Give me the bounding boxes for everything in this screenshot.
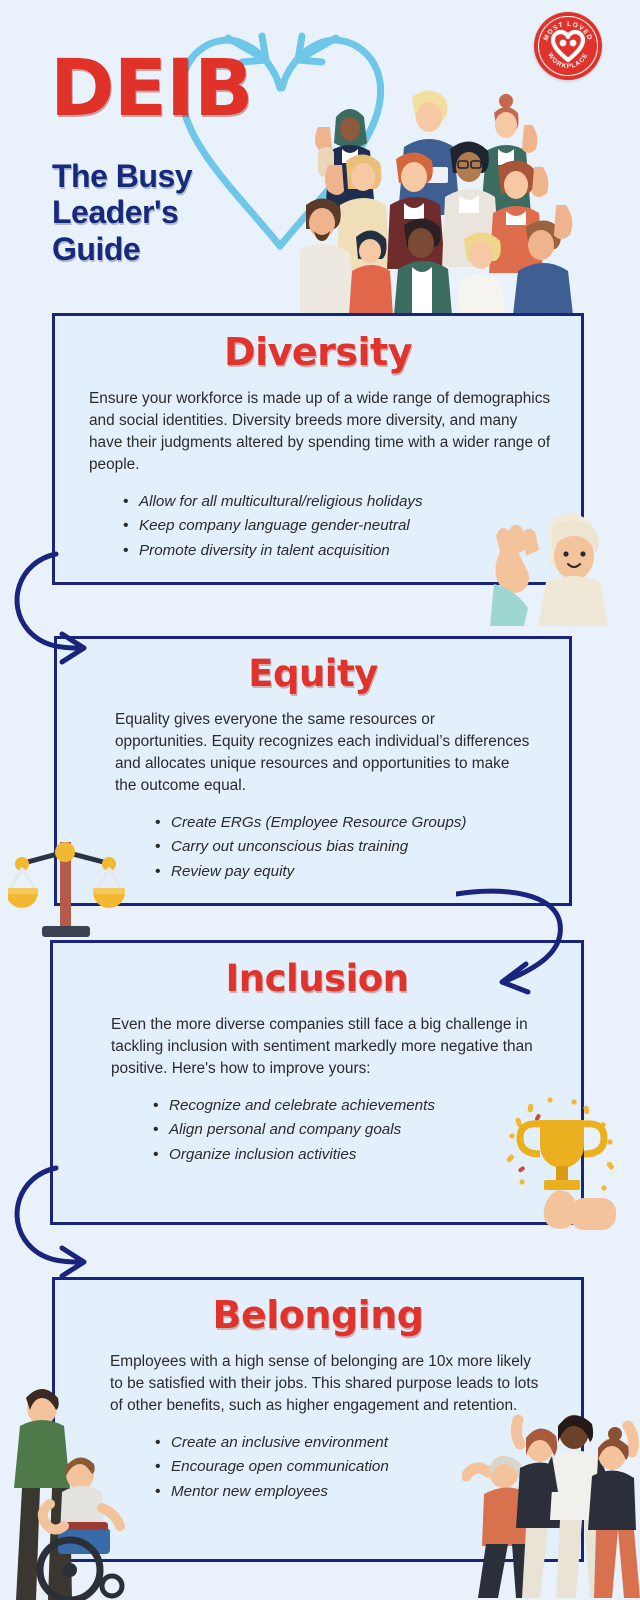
section-body-inclusion: Even the more diverse companies still fa… (111, 1014, 541, 1080)
page-title: DEIB (50, 52, 253, 126)
connector-inclusion-to-belonging (0, 1162, 130, 1292)
waving-woman-in-hijab-illustration (490, 498, 614, 626)
subtitle-line-3: Guide (52, 231, 192, 267)
section-body-equity: Equality gives everyone the same resourc… (115, 709, 531, 797)
celebrating-group-illustration (462, 1398, 640, 1603)
most-loved-workplace-badge: MOST LOVED WORKPLACE (534, 12, 602, 80)
section-title-belonging: Belonging (55, 1293, 581, 1337)
list-item: Carry out unconscious bias training (155, 835, 569, 860)
heart-icon (553, 32, 583, 60)
connector-equity-to-inclusion (456, 872, 606, 1002)
section-title-diversity: Diversity (55, 330, 581, 374)
infographic-poster: DEIB The Busy Leader's Guide (0, 0, 640, 1600)
section-card-equity: Equity Equality gives everyone the same … (54, 636, 572, 906)
wheelchair-user-illustration (2, 1378, 142, 1600)
section-body-diversity: Ensure your workforce is made up of a wi… (89, 388, 551, 476)
header: DEIB The Busy Leader's Guide (0, 0, 640, 312)
badge-content: MOST LOVED WORKPLACE (534, 12, 602, 80)
page-subtitle: The Busy Leader's Guide (52, 158, 192, 267)
diverse-group-of-people-illustration (300, 55, 600, 315)
list-item: Create ERGs (Employee Resource Groups) (155, 811, 569, 836)
hand-holding-trophy-illustration (492, 1092, 630, 1232)
section-title-equity: Equity (57, 652, 569, 695)
balance-scales-illustration (8, 822, 126, 940)
subtitle-line-1: The Busy (52, 158, 192, 194)
subtitle-line-2: Leader's (52, 194, 192, 230)
connector-diversity-to-equity (0, 548, 130, 678)
